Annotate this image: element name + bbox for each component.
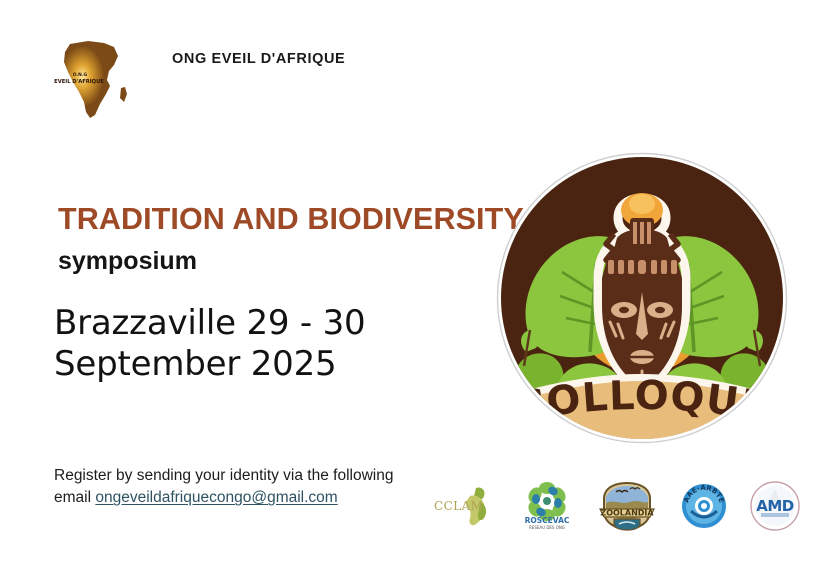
aae-arbte-logo: AAE-ARBTE: [679, 480, 729, 532]
event-location-date-line1: Brazzaville 29 - 30: [54, 303, 484, 344]
registration-email-link[interactable]: ongeveildafriquecongo@gmail.com: [95, 489, 337, 506]
event-date-line2: September 2025: [54, 344, 484, 385]
cclam-logo: CCLAM: [432, 480, 498, 532]
africa-logo-inner-line1: O.N.G: [73, 72, 88, 78]
amd-logo: AMD: [750, 480, 800, 532]
header: O.N.G EVEIL D'AFRIQUE ONG EVEIL D'AFRIQU…: [48, 32, 345, 124]
roscevac-logo: ROSCEVAC RESEAU DES ONG: [519, 480, 575, 532]
title-block: TRADITION AND BIODIVERSITY symposium: [58, 203, 498, 274]
page-subtitle: symposium: [58, 248, 498, 274]
zoolandia-logo: ZOOLANDIA: [596, 480, 658, 532]
registration-instruction-line1: Register by sending your identity via th…: [54, 465, 474, 487]
roscevac-sublabel: RESEAU DES ONG: [529, 525, 565, 530]
registration-email-prefix: email: [54, 489, 95, 506]
registration-instruction-line2: email ongeveildafriquecongo@gmail.com: [54, 487, 474, 509]
roscevac-label: ROSCEVAC: [525, 516, 570, 525]
partner-logos-strip: CCLAM: [432, 478, 800, 534]
amd-label: AMD: [756, 497, 794, 515]
event-date-block: Brazzaville 29 - 30 September 2025: [54, 303, 484, 386]
colloque-african-mask-emblem: COLLOQUE: [496, 152, 788, 444]
registration-block: Register by sending your identity via th…: [54, 465, 474, 510]
poster-canvas: O.N.G EVEIL D'AFRIQUE ONG EVEIL D'AFRIQU…: [0, 0, 828, 579]
page-title: TRADITION AND BIODIVERSITY: [58, 203, 498, 236]
africa-logo-inner-line2: EVEIL D'AFRIQUE: [54, 79, 104, 85]
zoolandia-label: ZOOLANDIA: [600, 509, 654, 518]
ong-eveil-afrique-africa-map-logo: O.N.G EVEIL D'AFRIQUE: [48, 32, 140, 124]
cclam-label: CCLAM: [434, 499, 483, 513]
org-name-label: ONG EVEIL D'AFRIQUE: [172, 51, 345, 67]
